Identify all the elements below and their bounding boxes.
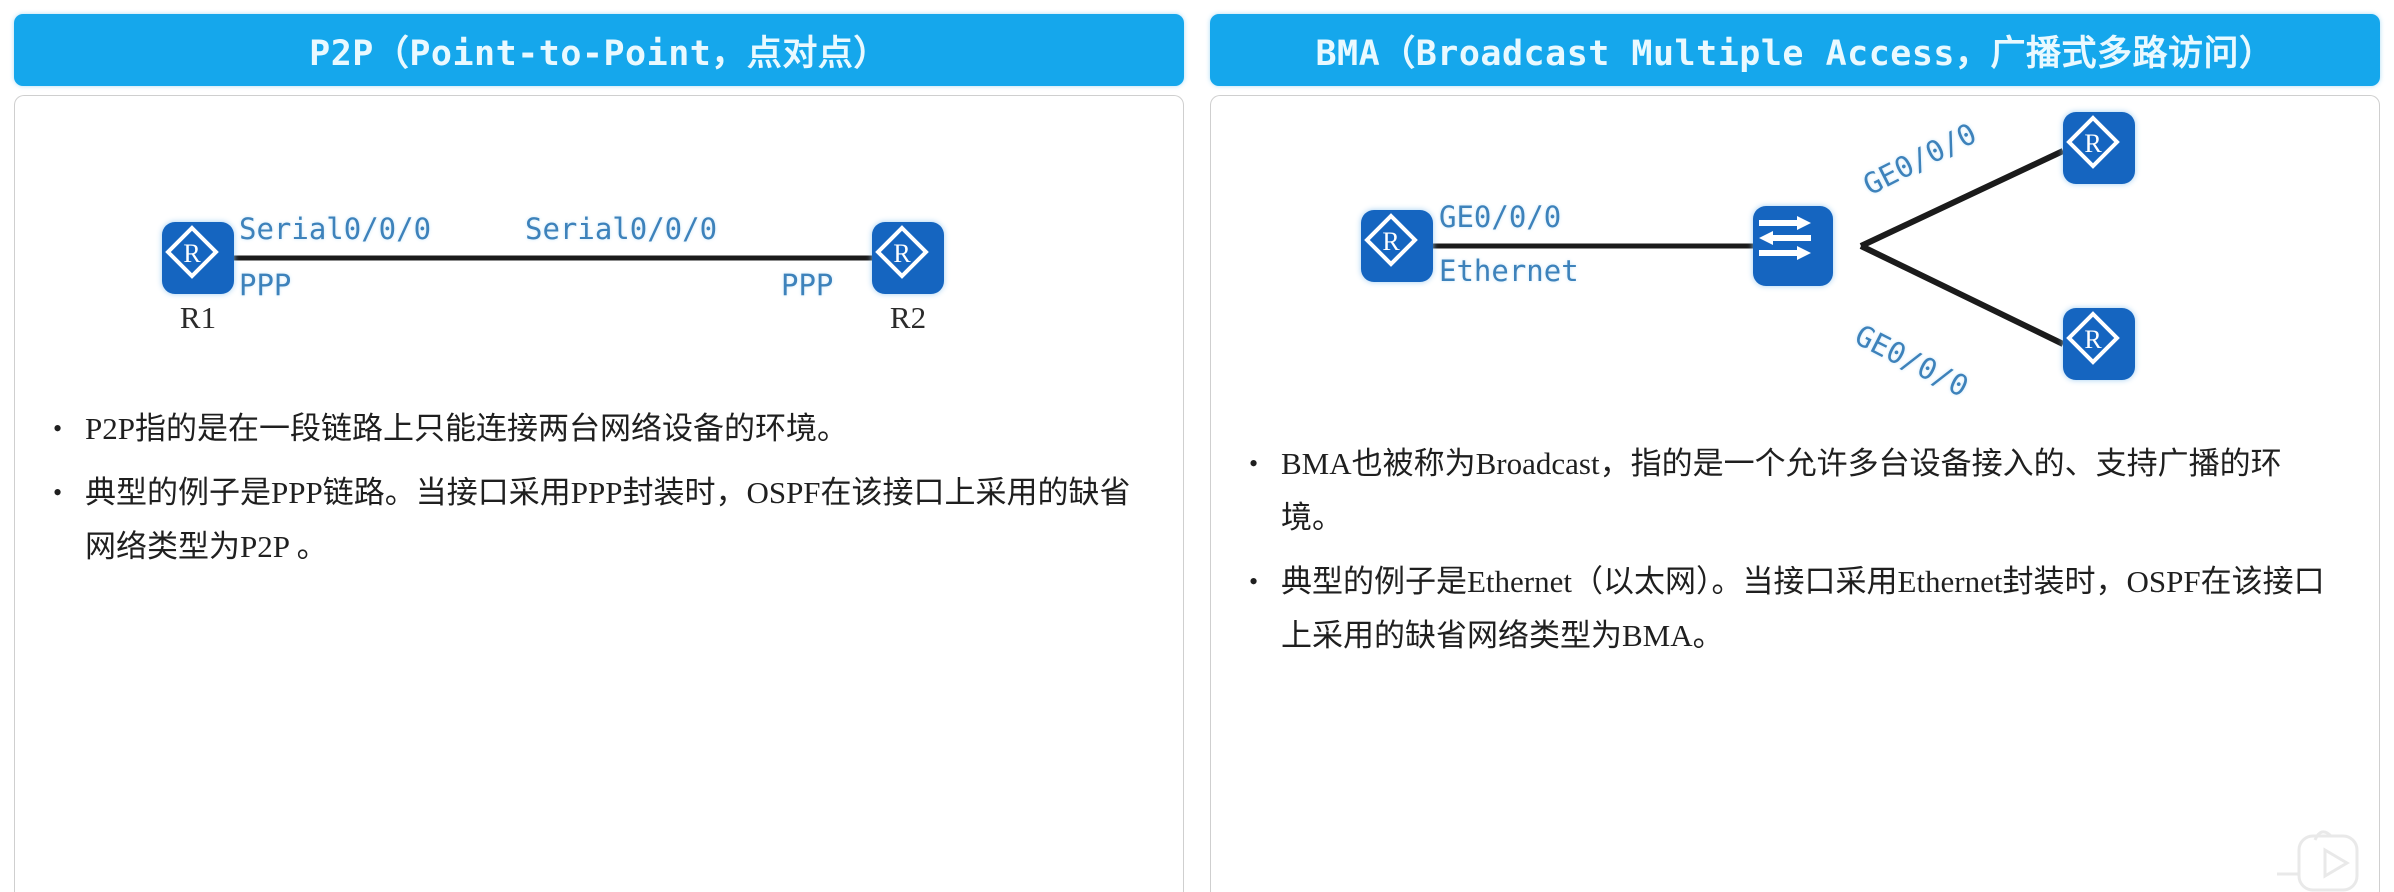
- node-label-r1: R1: [180, 300, 216, 336]
- iflabel-r2-encapsulation: PPP: [781, 268, 833, 302]
- panel-bma: BMA（Broadcast Multiple Access，广播式多路访问）: [1210, 14, 2380, 892]
- diagram-p2p: R R1 R R2 Serial0/0/0: [15, 96, 1183, 396]
- list-item: • BMA也被称为Broadcast，指的是一个允许多台设备接入的、支持广播的环…: [1241, 437, 2339, 545]
- router-glyph: R: [162, 222, 222, 282]
- node-router-bottom-right: R: [2063, 308, 2135, 380]
- node-r2: R R2: [872, 222, 944, 294]
- list-item: • 典型的例子是Ethernet（以太网）。当接口采用Ethernet封装时，O…: [1241, 555, 2339, 663]
- router-icon: R: [162, 222, 234, 294]
- svg-text:R: R: [183, 239, 201, 268]
- node-r1: R R1: [162, 222, 234, 294]
- svg-text:R: R: [893, 239, 911, 268]
- iflabel-r1-interface: Serial0/0/0: [239, 212, 431, 246]
- bullet-marker: •: [45, 402, 85, 456]
- node-router-top-right: R: [2063, 112, 2135, 184]
- panel-title-p2p: P2P（Point-to-Point，点对点）: [309, 25, 889, 76]
- router-icon: R: [1361, 210, 1433, 282]
- panel-header-bma: BMA（Broadcast Multiple Access，广播式多路访问）: [1210, 14, 2380, 86]
- list-item: • P2P指的是在一段链路上只能连接两台网络设备的环境。: [45, 402, 1143, 456]
- router-icon: R: [2063, 308, 2135, 380]
- switch-icon: [1753, 206, 1833, 286]
- node-switch-center: [1753, 206, 1833, 286]
- router-glyph: R: [2063, 308, 2123, 368]
- panel-body-p2p: R R1 R R2 Serial0/0/0: [14, 95, 1184, 892]
- panel-p2p: P2P（Point-to-Point，点对点） R R1: [14, 14, 1184, 892]
- router-icon: R: [872, 222, 944, 294]
- panel-title-bma: BMA（Broadcast Multiple Access，广播式多路访问）: [1315, 25, 2274, 76]
- switch-glyph: [1753, 206, 1817, 270]
- bullet-list-bma: • BMA也被称为Broadcast，指的是一个允许多台设备接入的、支持广播的环…: [1211, 431, 2379, 663]
- bullet-marker: •: [45, 466, 85, 520]
- iflabel-r2-interface: Serial0/0/0: [525, 212, 717, 246]
- slide-root: P2P（Point-to-Point，点对点） R R1: [0, 0, 2394, 892]
- svg-text:R: R: [2084, 325, 2102, 354]
- node-label-r2: R2: [890, 300, 926, 336]
- iflabel-left-encapsulation: Ethernet: [1439, 254, 1579, 288]
- router-glyph: R: [2063, 112, 2123, 172]
- diagram-bma: R: [1211, 96, 2379, 431]
- svg-text:R: R: [1382, 227, 1400, 256]
- svg-text:R: R: [2084, 129, 2102, 158]
- panel-header-p2p: P2P（Point-to-Point，点对点）: [14, 14, 1184, 86]
- iflabel-left-interface: GE0/0/0: [1439, 200, 1561, 234]
- iflabel-r1-encapsulation: PPP: [239, 268, 291, 302]
- bullet-marker: •: [1241, 437, 1281, 491]
- router-icon: R: [2063, 112, 2135, 184]
- bullet-text: 典型的例子是Ethernet（以太网）。当接口采用Ethernet封装时，OSP…: [1281, 555, 2339, 663]
- play-badge-watermark: [2277, 822, 2361, 892]
- bullet-text: P2P指的是在一段链路上只能连接两台网络设备的环境。: [85, 402, 1143, 456]
- bullet-list-p2p: • P2P指的是在一段链路上只能连接两台网络设备的环境。 • 典型的例子是PPP…: [15, 396, 1183, 574]
- list-item: • 典型的例子是PPP链路。当接口采用PPP封装时，OSPF在该接口上采用的缺省…: [45, 466, 1143, 574]
- bullet-text: 典型的例子是PPP链路。当接口采用PPP封装时，OSPF在该接口上采用的缺省网络…: [85, 466, 1143, 574]
- bullet-text: BMA也被称为Broadcast，指的是一个允许多台设备接入的、支持广播的环境。: [1281, 437, 2339, 545]
- router-glyph: R: [872, 222, 932, 282]
- node-router-left: R: [1361, 210, 1433, 282]
- panel-body-bma: R: [1210, 95, 2380, 892]
- router-glyph: R: [1361, 210, 1421, 270]
- bullet-marker: •: [1241, 555, 1281, 609]
